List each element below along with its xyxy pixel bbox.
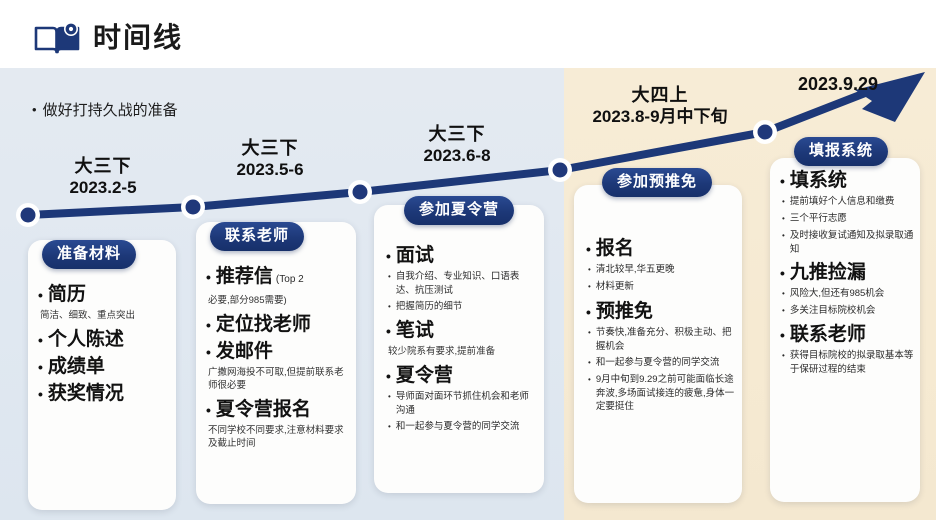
stage-label-3: 大三下 2023.6-8	[392, 124, 522, 166]
sub-bullet: •9月中旬到9.29之前可能面临长途奔波,多场面试接连的疲惫,身体一定要挺住	[586, 373, 736, 414]
stage-label-2: 大三下 2023.5-6	[205, 138, 335, 180]
stage-badge-3[interactable]: 参加夏令营	[404, 196, 514, 225]
stage-label-4: 大四上 2023.8-9月中下旬	[565, 85, 755, 127]
bullet-note: 广撒网海投不可取,但提前联系老师很必要	[208, 366, 348, 392]
bullet-item: •发邮件	[206, 339, 348, 365]
bullet-dot-icon: •	[782, 349, 785, 376]
card-5-content: •填系统 •提前填好个人信息和缴费 •三个平行志愿 •及时接收复试通知及拟录取通…	[780, 168, 914, 379]
bullet-dot-icon: •	[588, 326, 591, 353]
bullet-item: •报名	[586, 236, 736, 262]
bullet-dot-icon: •	[386, 363, 391, 389]
bullet-dot-icon: •	[588, 373, 591, 414]
stage-label-1: 大三下 2023.2-5	[38, 156, 168, 198]
sub-bullet: •三个平行志愿	[780, 212, 914, 226]
sub-bullet: •材料更新	[586, 280, 736, 294]
bullet-dot-icon: •	[588, 263, 591, 277]
open-book-icon	[33, 22, 81, 56]
bullet-note: 不同学校不同要求,注意材料要求及截止时间	[208, 424, 348, 450]
bullet-item: •成绩单	[38, 354, 168, 380]
bullet-dot-icon: •	[38, 282, 43, 308]
bullet-item: •夏令营	[386, 363, 538, 389]
bullet-item: •简历	[38, 282, 168, 308]
bullet-dot-icon: •	[206, 264, 211, 290]
slide-canvas: 时间线 •做好打持久战的准备 大三下 2023.2-5 大三下 2023.5-6	[0, 0, 936, 520]
sub-bullet: •风险大,但还有985机会	[780, 287, 914, 301]
sub-bullet: •自我介绍、专业知识、口语表达、抗压测试	[386, 270, 538, 297]
bullet-dot-icon: •	[388, 270, 391, 297]
sub-bullet: •清北较早,华五更晚	[586, 263, 736, 277]
bullet-item: •获奖情况	[38, 381, 168, 407]
sub-bullet: •获得目标院校的拟录取基本等于保研过程的结束	[780, 349, 914, 376]
card-3-content: •面试 •自我介绍、专业知识、口语表达、抗压测试 •把握简历的细节 •笔试 较少…	[386, 243, 538, 437]
stage-badge-5[interactable]: 填报系统	[794, 137, 888, 166]
bullet-dot-icon: •	[38, 381, 43, 407]
card-1-content: •简历 简洁、细致、重点突出 •个人陈述 •成绩单 •获奖情况	[38, 282, 168, 408]
stage-label-5: 2023.9.29	[768, 74, 908, 95]
bullet-dot-icon: •	[780, 260, 785, 286]
page-title: 时间线	[93, 21, 183, 55]
bullet-item: •面试	[386, 243, 538, 269]
sub-bullet: •节奏快,准备充分、积极主动、把握机会	[586, 326, 736, 353]
bullet-dot-icon: •	[782, 229, 785, 256]
bullet-dot-icon: •	[38, 354, 43, 380]
bullet-dot-icon: •	[782, 287, 785, 301]
bullet-item: •联系老师	[780, 322, 914, 348]
bullet-dot-icon: •	[38, 327, 43, 353]
slide-header: 时间线	[0, 0, 936, 68]
bullet-item: •填系统	[780, 168, 914, 194]
bullet-item: •个人陈述	[38, 327, 168, 353]
sub-bullet: •多关注目标院校机会	[780, 304, 914, 318]
stage-badge-2[interactable]: 联系老师	[210, 222, 304, 251]
bullet-dot-icon: •	[586, 299, 591, 325]
sub-bullet: •导师面对面环节抓住机会和老师沟通	[386, 390, 538, 417]
stage-badge-4[interactable]: 参加预推免	[602, 168, 712, 197]
bullet-dot-icon: •	[780, 322, 785, 348]
bullet-dot-icon: •	[386, 318, 391, 344]
card-2-content: •推荐信(Top 2 必要,部分985需要) •定位找老师 •发邮件 广撒网海投…	[206, 264, 348, 455]
sub-bullet: •及时接收复试通知及拟录取通知	[780, 229, 914, 256]
bullet-dot-icon: •	[388, 390, 391, 417]
sub-bullet: •提前填好个人信息和缴费	[780, 195, 914, 209]
bullet-dot-icon: •	[588, 356, 591, 370]
bullet-dot-icon: •	[780, 168, 785, 194]
bullet-dot-icon: •	[588, 280, 591, 294]
bullet-item: •推荐信(Top 2	[206, 264, 348, 293]
sub-bullet: •和一起参与夏令营的同学交流	[386, 420, 538, 434]
bullet-item: •笔试	[386, 318, 538, 344]
bullet-note: 必要,部分985需要)	[208, 294, 348, 307]
bullet-dot-icon: •	[386, 243, 391, 269]
bullet-note: 简洁、细致、重点突出	[40, 309, 168, 322]
bullet-dot-icon: •	[388, 300, 391, 314]
bullet-dot-icon: •	[586, 236, 591, 262]
bullet-dot-icon: •	[206, 397, 211, 423]
bullet-dot-icon: •	[782, 212, 785, 226]
bullet-item: •九推捡漏	[780, 260, 914, 286]
sub-bullet: •和一起参与夏令营的同学交流	[586, 356, 736, 370]
bullet-item: •夏令营报名	[206, 397, 348, 423]
stage-badge-1[interactable]: 准备材料	[42, 240, 136, 269]
bullet-dot-icon: •	[206, 339, 211, 365]
bullet-item: •定位找老师	[206, 312, 348, 338]
bullet-dot-icon: •	[206, 312, 211, 338]
bullet-dot-icon: •	[782, 304, 785, 318]
bullet-note: 较少院系有要求,提前准备	[388, 345, 538, 358]
bullet-dot-icon: •	[388, 420, 391, 434]
card-4-content: •报名 •清北较早,华五更晚 •材料更新 •预推免 •节奏快,准备充分、积极主动…	[586, 236, 736, 417]
bullet-item: •预推免	[586, 299, 736, 325]
sub-bullet: •把握简历的细节	[386, 300, 538, 314]
bullet-dot-icon: •	[782, 195, 785, 209]
